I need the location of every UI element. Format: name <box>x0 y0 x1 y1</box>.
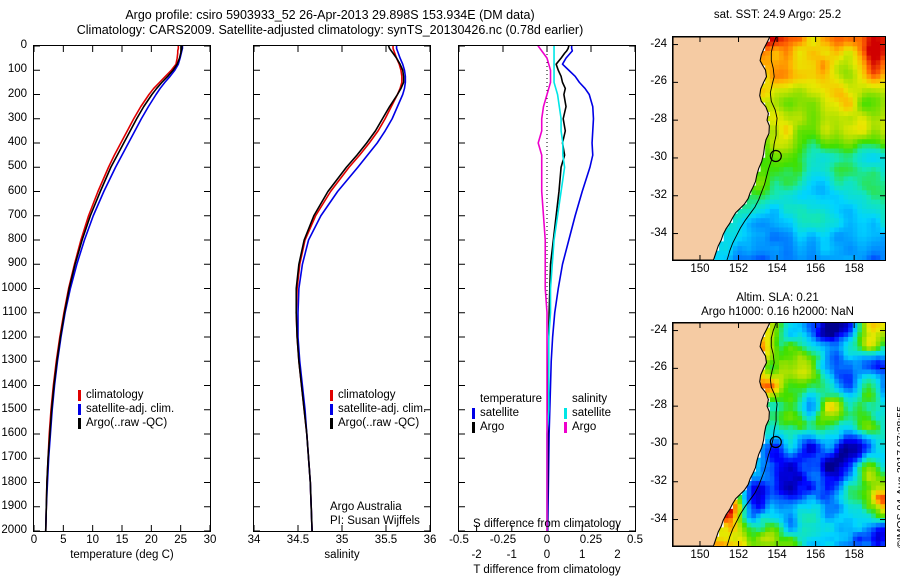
salinity-tick-label: 34 <box>248 534 261 546</box>
map-top-lon-label: 156 <box>806 263 825 275</box>
map-top-title: sat. SST: 24.9 Argo: 25.2 <box>660 8 895 22</box>
legend-label: Argo <box>572 420 596 434</box>
difference-legend-item: Argo <box>472 420 542 434</box>
map-bottom-lat-label: -24 <box>650 324 667 336</box>
map-top-lat-label: -24 <box>650 38 667 50</box>
temperature-legend-item: satellite-adj. clim. <box>78 402 174 416</box>
depth-tick-label: 1200 <box>1 330 27 342</box>
temperature-depth-ticks: 0100200300400500600700800900100011001200… <box>0 45 31 532</box>
salinity-xticks: 3434.53535.536 <box>253 534 431 550</box>
legend-label: climatology <box>338 388 396 402</box>
difference-legend-heading: salinity <box>572 392 611 406</box>
depth-tick-label: 2000 <box>1 524 27 536</box>
salinity-tick-label: 35.5 <box>375 534 397 546</box>
map-bottom-xticks: 150152154156158 <box>672 549 886 565</box>
tdiff-tick-label: 1 <box>579 549 585 561</box>
depth-tick-label: 1400 <box>1 379 27 391</box>
legend-label: satellite-adj. clim. <box>86 402 174 416</box>
temperature-legend: climatologysatellite-adj. clim.Argo(..ra… <box>78 388 174 430</box>
sla-map[interactable] <box>672 322 886 547</box>
title-line-2: Climatology: CARS2009. Satellite-adjuste… <box>0 23 660 38</box>
depth-tick-label: 700 <box>8 209 27 221</box>
depth-tick-label: 900 <box>8 257 27 269</box>
difference-t-ticks: -2-1012 <box>458 549 636 564</box>
salinity-axis-label: salinity <box>253 549 431 561</box>
map-bottom-lat-label: -32 <box>650 475 667 487</box>
argo-australia-label: Argo Australia <box>330 500 420 514</box>
legend-label: Argo <box>480 420 504 434</box>
depth-tick-label: 1000 <box>1 282 27 294</box>
temperature-legend-item: Argo(..raw -QC) <box>78 416 174 430</box>
depth-tick-label: 1500 <box>1 403 27 415</box>
depth-tick-label: 1900 <box>1 500 27 512</box>
tdiff-tick-label: 2 <box>614 549 620 561</box>
legend-label: climatology <box>86 388 144 402</box>
map-bottom-lat-label: -30 <box>650 437 667 449</box>
map-bottom-lat-label: -34 <box>650 513 667 525</box>
salinity-legend-item: Argo(..raw -QC) <box>330 416 426 430</box>
tdiff-tick-label: -2 <box>471 549 481 561</box>
map-bottom-lon-label: 158 <box>845 549 864 561</box>
difference-s-axis-label: S difference from climatology <box>448 518 646 530</box>
salinity-legend-item: satellite-adj. clim. <box>330 402 426 416</box>
depth-tick-label: 500 <box>8 160 27 172</box>
map-bottom-yticks: -24-26-28-30-32-34 <box>640 322 670 547</box>
legend-label: satellite <box>572 406 611 420</box>
depth-tick-label: 300 <box>8 112 27 124</box>
tdiff-tick-label: 0 <box>544 549 550 561</box>
imos-credit: ©IMOS 04-Aug-2017 07:28:55 <box>895 406 900 548</box>
depth-tick-label: 100 <box>8 63 27 75</box>
legend-color-swatch <box>472 408 475 419</box>
sdiff-tick-label: 0.25 <box>580 534 602 546</box>
temperature-tick-label: 25 <box>174 534 187 546</box>
sdiff-tick-label: 0 <box>544 534 550 546</box>
depth-tick-label: 0 <box>21 39 27 51</box>
map-bottom-lon-label: 156 <box>806 549 825 561</box>
salinity-tick-label: 36 <box>424 534 437 546</box>
map-bottom-lon-label: 150 <box>690 549 709 561</box>
tdiff-tick-label: -1 <box>507 549 517 561</box>
difference-legend-heading: temperature <box>480 392 542 406</box>
difference-legend: temperaturesatelliteArgosalinitysatellit… <box>472 392 611 434</box>
legend-color-swatch <box>472 422 475 433</box>
map-bottom-lat-label: -28 <box>650 399 667 411</box>
map-bottom-title: Altim. SLA: 0.21 Argo h1000: 0.16 h2000:… <box>660 291 895 319</box>
difference-legend-item: satellite <box>472 406 542 420</box>
temperature-xticks: 051015202530 <box>33 534 211 550</box>
depth-tick-label: 600 <box>8 185 27 197</box>
map-bottom-lon-label: 152 <box>729 549 748 561</box>
legend-color-swatch <box>78 404 81 415</box>
salinity-tick-label: 34.5 <box>287 534 309 546</box>
legend-color-swatch <box>564 422 567 433</box>
difference-legend-item: satellite <box>564 406 611 420</box>
map-top-lat-label: -30 <box>650 151 667 163</box>
salinity-footer: Argo Australia PI: Susan Wijffels <box>330 500 420 528</box>
legend-color-swatch <box>330 404 333 415</box>
temperature-tick-label: 20 <box>145 534 158 546</box>
temperature-tick-label: 30 <box>204 534 217 546</box>
difference-legend-item: Argo <box>564 420 611 434</box>
sdiff-tick-label: -0.25 <box>490 534 516 546</box>
legend-label: satellite-adj. clim. <box>338 402 426 416</box>
difference-t-axis-label: T difference from climatology <box>448 564 646 576</box>
map-top-xticks: 150152154156158 <box>672 263 886 279</box>
temperature-tick-label: 5 <box>60 534 66 546</box>
map-bottom-lon-label: 154 <box>767 549 786 561</box>
depth-tick-label: 1800 <box>1 476 27 488</box>
temperature-tick-label: 15 <box>116 534 129 546</box>
salinity-tick-label: 35 <box>336 534 349 546</box>
legend-color-swatch <box>330 418 333 429</box>
difference-s-ticks: -0.5-0.2500.250.5 <box>458 534 636 549</box>
temperature-tick-label: 0 <box>31 534 37 546</box>
legend-label: satellite <box>480 406 519 420</box>
map-top-lat-label: -26 <box>650 75 667 87</box>
legend-label: Argo(..raw -QC) <box>338 416 419 430</box>
map-bottom-title-line-1: Altim. SLA: 0.21 <box>660 291 895 305</box>
depth-tick-label: 400 <box>8 136 27 148</box>
difference-panel[interactable] <box>458 45 636 532</box>
map-top-lat-label: -28 <box>650 113 667 125</box>
temperature-axis-label: temperature (deg C) <box>33 549 211 561</box>
difference-legend-column: temperaturesatelliteArgo <box>472 392 542 434</box>
map-top-yticks: -24-26-28-30-32-34 <box>640 36 670 261</box>
temperature-panel[interactable] <box>33 45 211 532</box>
map-bottom-lat-label: -26 <box>650 361 667 373</box>
map-bottom-title-line-2: Argo h1000: 0.16 h2000: NaN <box>660 305 895 319</box>
temperature-tick-label: 10 <box>86 534 99 546</box>
legend-color-swatch <box>78 418 81 429</box>
depth-tick-label: 1600 <box>1 427 27 439</box>
legend-color-swatch <box>564 408 567 419</box>
depth-tick-label: 800 <box>8 233 27 245</box>
sdiff-tick-label: -0.5 <box>449 534 469 546</box>
sst-map[interactable] <box>672 36 886 261</box>
temperature-legend-item: climatology <box>78 388 174 402</box>
legend-color-swatch <box>78 390 81 401</box>
legend-color-swatch <box>330 390 333 401</box>
map-top-lon-label: 158 <box>845 263 864 275</box>
pi-label: PI: Susan Wijffels <box>330 514 420 528</box>
depth-tick-label: 1300 <box>1 354 27 366</box>
legend-label: Argo(..raw -QC) <box>86 416 167 430</box>
depth-tick-label: 1100 <box>2 306 27 318</box>
salinity-panel[interactable] <box>253 45 431 532</box>
salinity-legend: climatologysatellite-adj. clim.Argo(..ra… <box>330 388 426 430</box>
map-top-lat-label: -34 <box>650 227 667 239</box>
difference-legend-column: salinitysatelliteArgo <box>564 392 611 434</box>
map-top-lon-label: 150 <box>690 263 709 275</box>
salinity-legend-item: climatology <box>330 388 426 402</box>
map-top-lon-label: 152 <box>729 263 748 275</box>
map-top-lat-label: -32 <box>650 189 667 201</box>
title-line-1: Argo profile: csiro 5903933_52 26-Apr-20… <box>0 8 660 23</box>
depth-tick-label: 200 <box>8 88 27 100</box>
map-top-lon-label: 154 <box>767 263 786 275</box>
page-title: Argo profile: csiro 5903933_52 26-Apr-20… <box>0 8 660 38</box>
depth-tick-label: 1700 <box>1 451 27 463</box>
